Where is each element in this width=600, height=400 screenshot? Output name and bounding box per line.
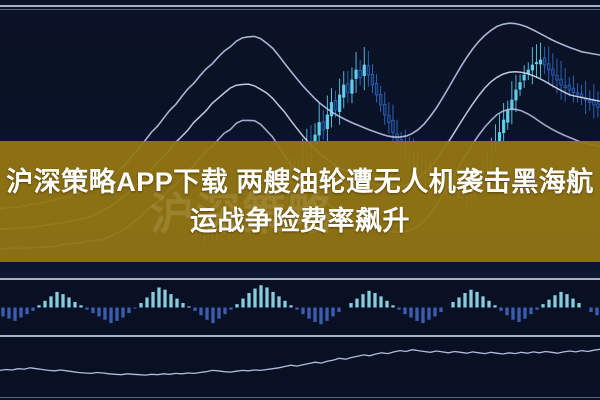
macd-histogram-chart	[0, 280, 600, 335]
bottom-divider-thin	[0, 397, 600, 398]
top-divider	[0, 5, 600, 7]
indicator-line-chart	[0, 337, 600, 390]
bottom-strip	[0, 390, 600, 400]
indicator-panel	[0, 337, 600, 390]
top-divider-thin	[0, 9, 600, 10]
chart-image: 沪深策略 沪深策略APP下载 两艘油轮遭无人机袭击黑海航 运战争险费率飙升	[0, 0, 600, 400]
headline-line-2: 运战争险费率飙升	[190, 205, 410, 238]
headline: 沪深策略APP下载 两艘油轮遭无人机袭击黑海航 运战争险费率飙升	[0, 141, 600, 262]
headline-line-1: 沪深策略APP下载 两艘油轮遭无人机袭击黑海航	[6, 166, 594, 199]
macd-panel	[0, 280, 600, 335]
